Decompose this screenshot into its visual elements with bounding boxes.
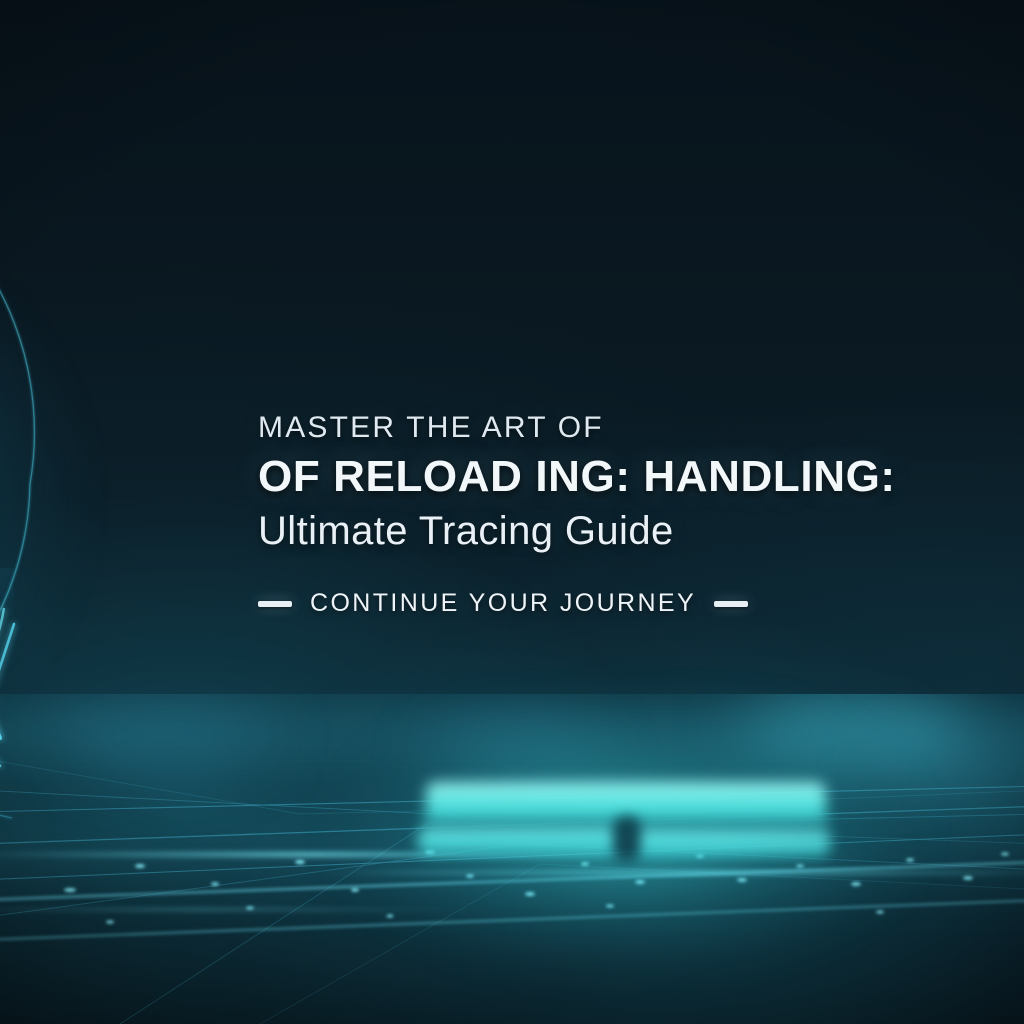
glowing-book xyxy=(418,776,838,886)
hero-kicker: MASTER THE ART OF xyxy=(258,412,998,444)
hero-cta-row: CONTINUE YOUR JOURNEY xyxy=(258,589,998,618)
hud-ring-arc xyxy=(0,178,248,818)
book-pages-right xyxy=(634,830,830,856)
hero-subhead: Ultimate Tracing Guide xyxy=(258,507,998,555)
hero-cta-label: CONTINUE YOUR JOURNEY xyxy=(310,589,696,618)
hero-headline: OF RELOAD ING: HANDLING: xyxy=(258,450,998,504)
hero-banner: MASTER THE ART OF OF RELOAD ING: HANDLIN… xyxy=(0,0,1024,1024)
book-spine-gap xyxy=(614,816,640,860)
hud-ring-glow xyxy=(0,238,88,758)
cta-dash-right-icon xyxy=(714,601,748,607)
hero-text-block: MASTER THE ART OF OF RELOAD ING: HANDLIN… xyxy=(258,412,998,618)
book-pages-left xyxy=(418,828,618,854)
cta-dash-left-icon xyxy=(258,601,292,607)
